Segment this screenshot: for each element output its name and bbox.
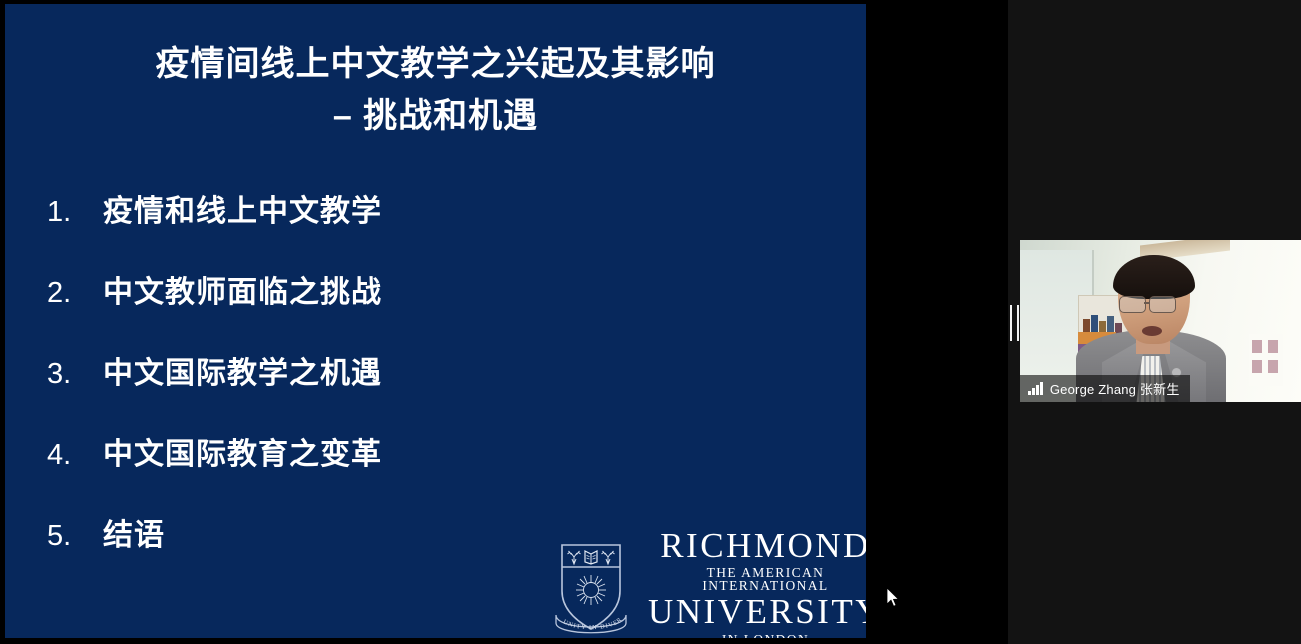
list-item-number: 4. <box>47 439 103 472</box>
list-item-label: 结语 <box>103 510 165 554</box>
university-wordmark: RICHMOND THE AMERICAN INTERNATIONAL UNIV… <box>648 528 866 638</box>
wordmark-line-university: UNIVERSITY <box>648 594 866 629</box>
list-item-number: 3. <box>47 358 103 391</box>
participant-name-text: George Zhang 张新生 <box>1050 379 1180 398</box>
signal-bars-icon <box>1028 383 1043 395</box>
wordmark-line-american-international: THE AMERICAN INTERNATIONAL <box>648 566 866 593</box>
list-item: 4. 中文国际教育之变革 <box>47 429 747 510</box>
participant-name-label: George Zhang 张新生 <box>1020 375 1190 402</box>
list-item-label: 中文教师面临之挑战 <box>103 267 382 311</box>
list-item: 1. 疫情和线上中文教学 <box>47 186 747 267</box>
university-crest-icon: UNITY IN DIVERSITY <box>550 537 632 637</box>
list-item-label: 中文国际教学之机遇 <box>103 348 382 392</box>
wordmark-line-richmond: RICHMOND <box>648 528 866 563</box>
list-item-number: 5. <box>47 520 103 553</box>
video-panel-drag-handle-icon[interactable] <box>1010 305 1019 341</box>
list-item: 3. 中文国际教学之机遇 <box>47 348 747 429</box>
mouse-pointer-icon <box>886 587 900 609</box>
wordmark-line-in-london: IN LONDON <box>648 633 866 638</box>
shared-screen-stage[interactable]: 疫情间线上中文教学之兴起及其影响 – 挑战和机遇 1. 疫情和线上中文教学 2.… <box>0 0 866 644</box>
list-item-number: 2. <box>47 277 103 310</box>
meeting-screen-share-window: 疫情间线上中文教学之兴起及其影响 – 挑战和机遇 1. 疫情和线上中文教学 2.… <box>0 0 1301 644</box>
list-item-number: 1. <box>47 196 103 229</box>
list-item-label: 疫情和线上中文教学 <box>103 186 382 230</box>
list-item-label: 中文国际教育之变革 <box>103 429 382 473</box>
slide-title: 疫情间线上中文教学之兴起及其影响 – 挑战和机遇 <box>5 38 866 142</box>
participant-video-tile[interactable]: George Zhang 张新生 <box>1020 240 1301 402</box>
richmond-university-logo: UNITY IN DIVERSITY RICHMOND THE AMERICAN… <box>550 537 840 637</box>
presentation-slide: 疫情间线上中文教学之兴起及其影响 – 挑战和机遇 1. 疫情和线上中文教学 2.… <box>5 4 866 638</box>
list-item: 2. 中文教师面临之挑战 <box>47 267 747 348</box>
agenda-list: 1. 疫情和线上中文教学 2. 中文教师面临之挑战 3. 中文国际教学之机遇 4… <box>47 186 747 591</box>
